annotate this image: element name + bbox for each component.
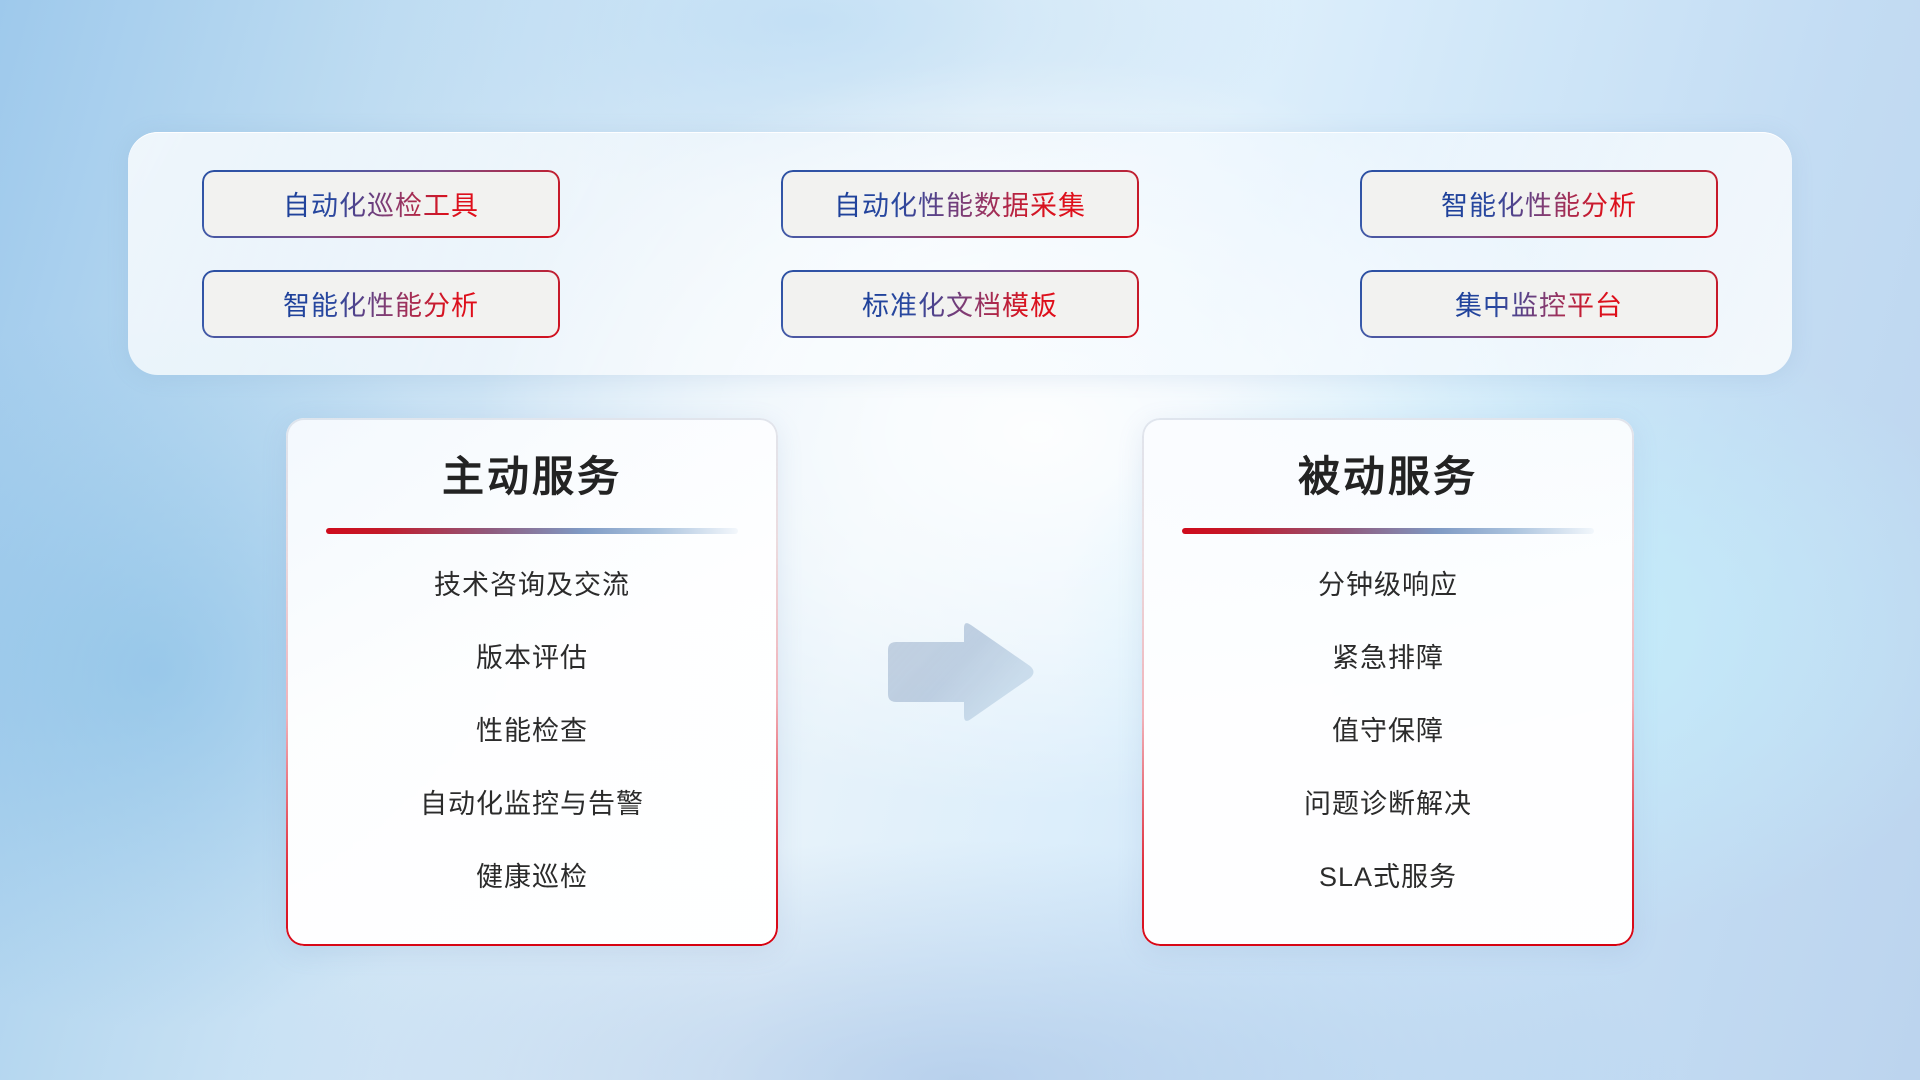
service-card-item: 问题诊断解决 (1304, 791, 1472, 818)
capability-pill-intelligent-performance-analysis[interactable]: 智能化性能分析 (1360, 170, 1718, 238)
flow-arrow-right-icon (880, 618, 1040, 726)
service-card-item-list: 分钟级响应 紧急排障 值守保障 问题诊断解决 SLA式服务 (1182, 572, 1594, 891)
flow-arrow-shape (888, 623, 1034, 721)
service-card-item: 分钟级响应 (1318, 572, 1458, 599)
capability-pill-label: 智能化性能分析 (1441, 184, 1637, 223)
capability-row-1: 自动化巡检工具 自动化性能数据采集 智能化性能分析 (202, 170, 1718, 238)
service-card-title: 主动服务 (442, 452, 622, 502)
service-card-divider (1182, 528, 1594, 534)
capability-pill-automated-performance-data-collection[interactable]: 自动化性能数据采集 (781, 170, 1139, 238)
service-card-item-list: 技术咨询及交流 版本评估 性能检查 自动化监控与告警 健康巡检 (326, 572, 738, 891)
service-card-item: 紧急排障 (1332, 645, 1444, 672)
service-card-item: 版本评估 (476, 645, 588, 672)
service-card-item: 健康巡检 (476, 864, 588, 891)
capability-pill-label: 智能化性能分析 (283, 284, 479, 323)
service-card-title: 被动服务 (1298, 452, 1478, 502)
capability-pill-intelligent-performance-analysis-2[interactable]: 智能化性能分析 (202, 270, 560, 338)
service-card-item: 技术咨询及交流 (434, 572, 630, 599)
service-card-item: 值守保障 (1332, 718, 1444, 745)
service-card-inner: 主动服务 技术咨询及交流 版本评估 性能检查 自动化监控与告警 健康巡检 (286, 418, 778, 946)
capability-pill-automated-inspection-tool[interactable]: 自动化巡检工具 (202, 170, 560, 238)
capability-row-2: 智能化性能分析 标准化文档模板 集中监控平台 (202, 270, 1718, 338)
capability-pill-label: 标准化文档模板 (862, 284, 1058, 323)
service-card-item: SLA式服务 (1319, 864, 1457, 891)
service-card-item: 性能检查 (476, 718, 588, 745)
capability-pill-standardized-document-template[interactable]: 标准化文档模板 (781, 270, 1139, 338)
service-card-reactive: 被动服务 分钟级响应 紧急排障 值守保障 问题诊断解决 SLA式服务 (1142, 418, 1634, 946)
capability-pill-label: 自动化巡检工具 (283, 184, 479, 223)
capability-pill-label: 自动化性能数据采集 (834, 184, 1086, 223)
capability-pill-label: 集中监控平台 (1455, 284, 1623, 323)
service-card-divider (326, 528, 738, 534)
service-card-item: 自动化监控与告警 (420, 791, 644, 818)
service-card-proactive: 主动服务 技术咨询及交流 版本评估 性能检查 自动化监控与告警 健康巡检 (286, 418, 778, 946)
capability-pill-centralized-monitoring-platform[interactable]: 集中监控平台 (1360, 270, 1718, 338)
service-card-inner: 被动服务 分钟级响应 紧急排障 值守保障 问题诊断解决 SLA式服务 (1142, 418, 1634, 946)
capability-panel: 自动化巡检工具 自动化性能数据采集 智能化性能分析 智能化性能分析 标准化文档模… (128, 132, 1792, 375)
